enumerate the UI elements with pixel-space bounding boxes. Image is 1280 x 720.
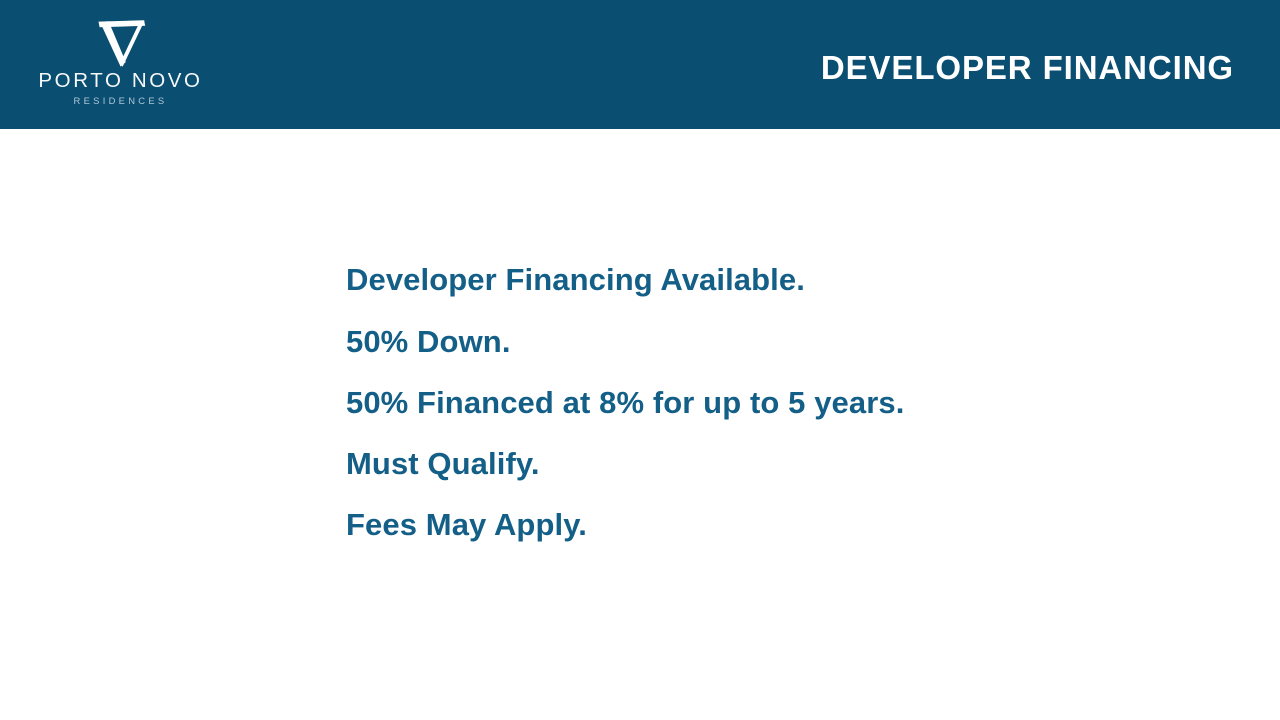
body-line-3: 50% Financed at 8% for up to 5 years. xyxy=(346,385,1166,421)
body-line-2: 50% Down. xyxy=(346,324,1166,360)
body-content: Developer Financing Available. 50% Down.… xyxy=(346,262,1166,543)
body-line-5: Fees May Apply. xyxy=(346,507,1166,543)
body-line-1: Developer Financing Available. xyxy=(346,262,1166,298)
brand-logo: PORTO NOVO RESIDENCES xyxy=(38,18,203,112)
header-band: PORTO NOVO RESIDENCES DEVELOPER FINANCIN… xyxy=(0,0,1280,129)
slide: PORTO NOVO RESIDENCES DEVELOPER FINANCIN… xyxy=(0,0,1280,720)
porto-novo-v-mark-icon xyxy=(88,18,154,68)
logo-wordmark: PORTO NOVO xyxy=(38,70,203,91)
logo-subwordmark: RESIDENCES xyxy=(38,94,203,108)
slide-title: DEVELOPER FINANCING xyxy=(821,48,1234,88)
body-line-4: Must Qualify. xyxy=(346,446,1166,482)
